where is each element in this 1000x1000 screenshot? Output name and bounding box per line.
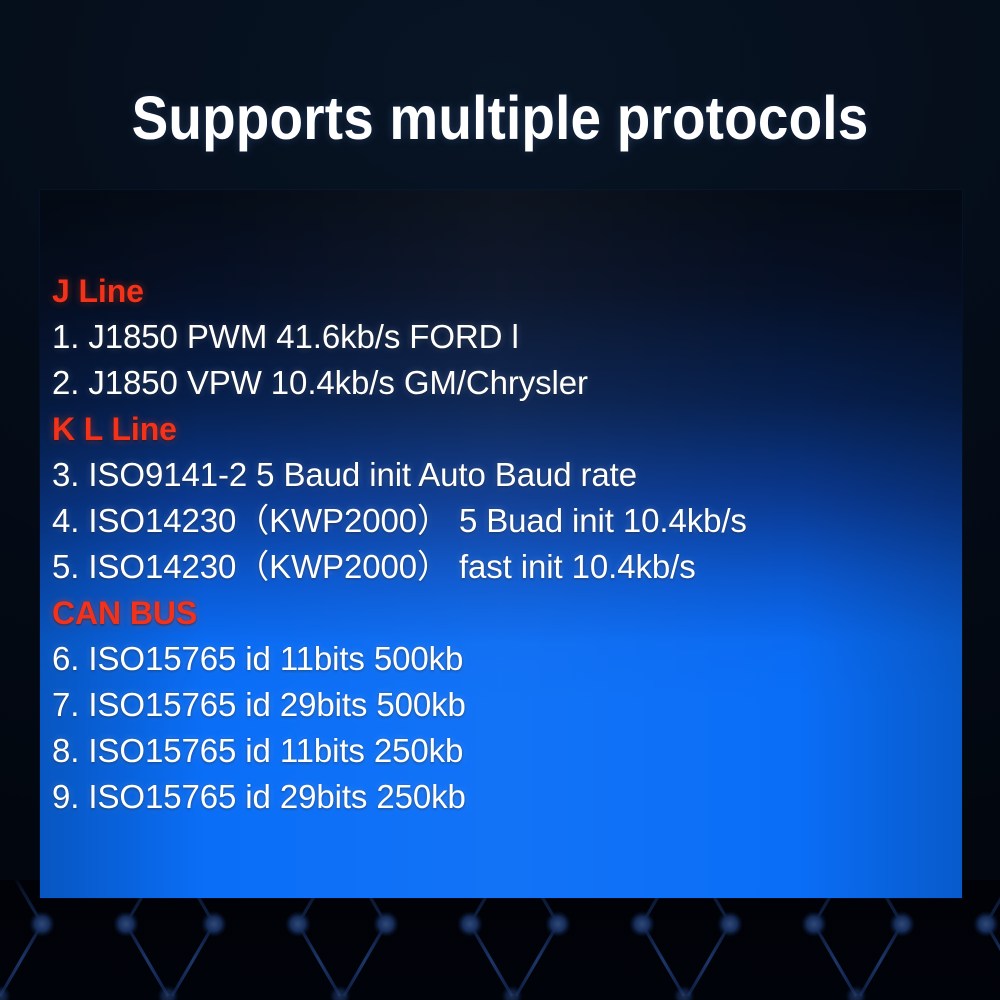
list-item: 1. J1850 PWM 41.6kb/s FORD l (52, 314, 942, 360)
hexagon-network-band (0, 880, 1000, 1000)
page-title: Supports multiple protocols (50, 88, 950, 149)
list-item: 7. ISO15765 id 29bits 500kb (52, 682, 942, 728)
list-item: 6. ISO15765 id 11bits 500kb (52, 636, 942, 682)
list-item: 8. ISO15765 id 11bits 250kb (52, 728, 942, 774)
section-heading-can-bus: CAN BUS (52, 590, 942, 636)
list-item: 2. J1850 VPW 10.4kb/s GM/Chrysler (52, 360, 942, 406)
section-heading-k-l-line: K L Line (52, 406, 942, 452)
slide-canvas: Supports multiple protocols J Line 1. J1… (0, 0, 1000, 1000)
protocol-list: J Line 1. J1850 PWM 41.6kb/s FORD l 2. J… (52, 268, 942, 820)
section-heading-j-line: J Line (52, 268, 942, 314)
list-item: 4. ISO14230（KWP2000） 5 Buad init 10.4kb/… (52, 498, 942, 544)
list-item: 9. ISO15765 id 29bits 250kb (52, 774, 942, 820)
list-item: 5. ISO14230（KWP2000） fast init 10.4kb/s (52, 544, 942, 590)
list-item: 3. ISO9141-2 5 Baud init Auto Baud rate (52, 452, 942, 498)
protocol-panel: J Line 1. J1850 PWM 41.6kb/s FORD l 2. J… (40, 190, 962, 898)
